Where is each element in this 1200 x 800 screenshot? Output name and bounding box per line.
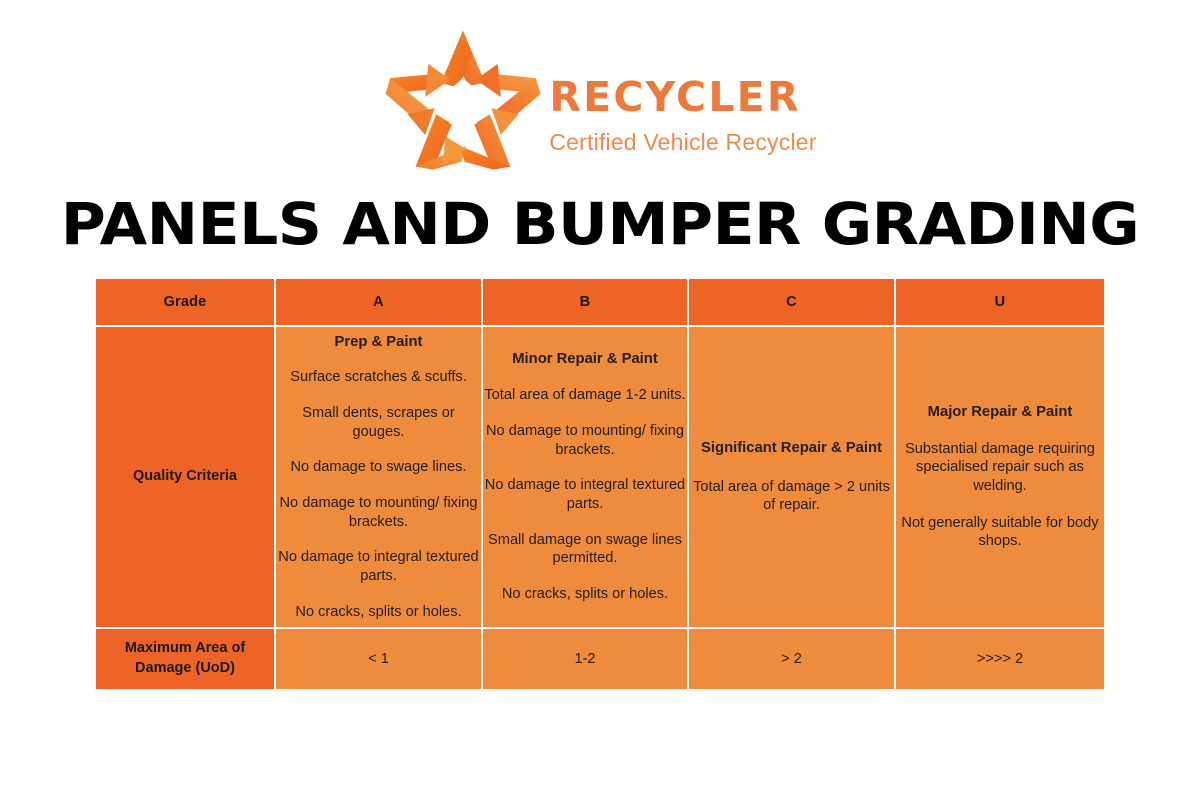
cell-line-b-3: No damage to integral textured parts. [483,476,687,513]
cell-maximum-area-u: >>>> 2 [896,629,1104,689]
cell-line-a-4: No damage to mounting/ fixing brackets. [276,494,481,531]
cell-line-b-2: No damage to mounting/ fixing brackets. [483,422,687,459]
cell-lead-c: Significant Repair & Paint [689,439,894,458]
column-header-c: C [689,279,896,327]
table-row-quality-criteria: Quality Criteria Prep & Paint Surface sc… [96,327,1104,629]
grading-table: Grade A B C U Quality Criteria Prep & Pa… [96,279,1104,689]
cell-quality-criteria-a: Prep & Paint Surface scratches & scuffs.… [276,327,483,629]
column-header-grade: Grade [96,279,276,327]
cell-line-a-1: Surface scratches & scuffs. [276,368,481,387]
logo-tagline: Certified Vehicle Recycler [549,131,816,154]
cell-line-u-1: Substantial damage requiring specialised… [896,440,1104,496]
column-header-b: B [483,279,689,327]
brand-logo: RECYCLER Certified Vehicle Recycler [0,26,1200,176]
column-header-a: A [276,279,483,327]
cell-line-b-1: Total area of damage 1-2 units. [483,386,687,405]
table-header-row: Grade A B C U [96,279,1104,327]
recycle-star-icon [383,26,543,176]
cell-line-a-6: No cracks, splits or holes. [276,603,481,622]
cell-quality-criteria-u: Major Repair & Paint Substantial damage … [896,327,1104,629]
row-label-maximum-area: Maximum Area of Damage (UoD) [96,629,276,689]
cell-line-b-5: No cracks, splits or holes. [483,585,687,604]
cell-line-c-1: Total area of damage > 2 units of repair… [689,478,894,515]
cell-line-b-4: Small damage on swage lines permitted. [483,531,687,568]
cell-quality-criteria-c: Significant Repair & Paint Total area of… [689,327,896,629]
cell-lead-b: Minor Repair & Paint [483,350,687,369]
cell-line-a-5: No damage to integral textured parts. [276,548,481,585]
cell-maximum-area-b: 1-2 [483,629,689,689]
cell-line-a-2: Small dents, scrapes or gouges. [276,404,481,441]
cell-quality-criteria-b: Minor Repair & Paint Total area of damag… [483,327,689,629]
page-title: PANELS AND BUMPER GRADING [0,193,1200,257]
cell-line-a-3: No damage to swage lines. [276,458,481,477]
column-header-u: U [896,279,1104,327]
cell-maximum-area-c: > 2 [689,629,896,689]
cell-lead-u: Major Repair & Paint [896,403,1104,422]
table-row-maximum-area: Maximum Area of Damage (UoD) < 1 1-2 > 2… [96,629,1104,689]
logo-wordmark: RECYCLER [549,77,816,118]
cell-maximum-area-a: < 1 [276,629,483,689]
row-label-quality-criteria: Quality Criteria [96,327,276,629]
cell-lead-a: Prep & Paint [276,333,481,352]
cell-line-u-2: Not generally suitable for body shops. [896,514,1104,551]
